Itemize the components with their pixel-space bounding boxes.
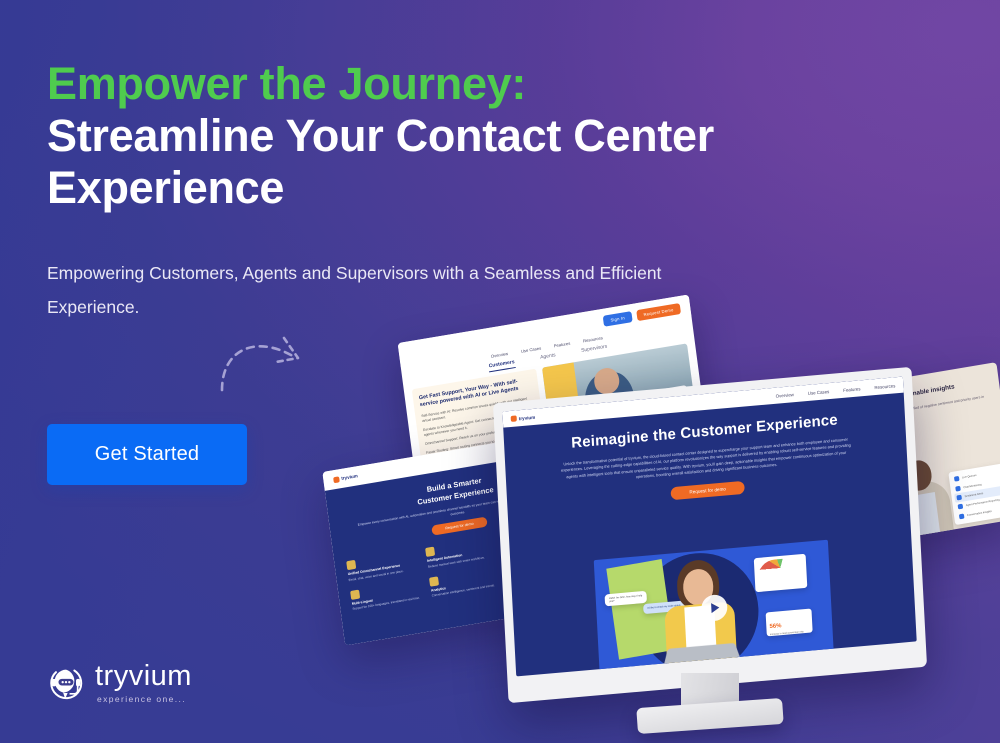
video-thumbnail[interactable]: Hello! I'm John, how may I help you? I'd… (594, 540, 834, 675)
mock-nav-item[interactable]: Resources (583, 335, 603, 343)
mock-nav-item[interactable]: Use Cases (521, 346, 542, 354)
list-icon (959, 513, 965, 519)
list-item-label: Conversation Insights (967, 510, 992, 517)
stat-chip: 56% Increase in lead conversion rate (766, 608, 813, 636)
feature-icon (350, 589, 360, 599)
hero-subtitle: Empowering Customers, Agents and Supervi… (47, 256, 687, 324)
list-item-label: Live Queues (962, 474, 977, 479)
stat-value: 56% (769, 623, 781, 630)
feature-cell: Unified Omnichannel ExperienceEmail, cha… (346, 549, 421, 582)
get-started-button[interactable]: Get Started (47, 424, 247, 485)
mock-logo-text: tryvium (519, 414, 536, 420)
feature-cell: AnalyticsConversation intelligence, sent… (429, 565, 504, 598)
logo-tagline: experience one... (97, 694, 192, 704)
mock-logo-text: tryvium (341, 473, 358, 481)
list-icon (955, 485, 961, 491)
desktop-monitor-mockup: tryvium Overview Use Cases Features Reso… (500, 385, 920, 730)
feature-icon (429, 576, 439, 586)
feature-icon (425, 547, 435, 557)
mock-nav-item[interactable]: Features (554, 341, 571, 349)
feature-cell: Multi-LingualSupport for 100+ languages,… (350, 578, 425, 611)
monitoring-list: Live Queues Chat Monitoring Sentiment Al… (948, 463, 1000, 525)
feature-icon (346, 560, 356, 570)
list-icon (956, 495, 962, 501)
logo-dot-icon (511, 415, 517, 422)
hero-banner: Empower the Journey: Streamline Your Con… (0, 0, 1000, 743)
monitor-frame: tryvium Overview Use Cases Features Reso… (493, 367, 927, 703)
feature-cell: Intelligent AutomationReduce manual work… (425, 536, 500, 569)
list-item-label: Sentiment Alerts (964, 492, 983, 498)
mock-logo: tryvium (333, 473, 358, 483)
list-item-label: Chat Monitoring (963, 483, 981, 489)
agent-photo (654, 557, 745, 672)
page-title-line-1: Empower the Journey: (47, 58, 747, 110)
gauge-icon (757, 557, 804, 579)
mock-nav-item[interactable]: Features (843, 386, 861, 393)
hero-copy: Empower the Journey: Streamline Your Con… (47, 58, 747, 324)
mock-logo: tryvium (511, 414, 536, 422)
photo-laptop (662, 643, 744, 674)
page-title-line-3: Experience (47, 162, 747, 214)
mock-request-demo-button[interactable]: Request for demo (670, 481, 744, 500)
product-mockup-cluster: Sign In Request Demo Overview Use Cases … (300, 300, 1000, 730)
page-title-line-2: Streamline Your Contact Center (47, 110, 747, 162)
monitor-base (636, 698, 783, 734)
logo-wordmark: tryvium (95, 662, 192, 691)
gauge-chip (754, 553, 808, 592)
monitor-screen: tryvium Overview Use Cases Features Reso… (502, 377, 916, 677)
mock-nav-item[interactable]: Overview (776, 392, 795, 399)
mock-nav-item[interactable]: Use Cases (808, 389, 830, 396)
mock-request-demo-button[interactable]: Request for demo (431, 517, 488, 536)
logo-dot-icon (333, 476, 340, 483)
mock-nav: Overview Use Cases Features Resources (776, 383, 896, 398)
chat-bubble-headset-icon (46, 663, 86, 703)
dashed-curved-arrow-icon (212, 322, 312, 392)
tryvium-logo: tryvium experience one... (46, 662, 192, 704)
list-icon (958, 504, 964, 510)
list-icon (954, 476, 960, 482)
mock-nav-item[interactable]: Overview (491, 351, 509, 359)
mock-nav-item[interactable]: Resources (874, 383, 895, 390)
tab-agents[interactable]: Agents (540, 352, 557, 363)
